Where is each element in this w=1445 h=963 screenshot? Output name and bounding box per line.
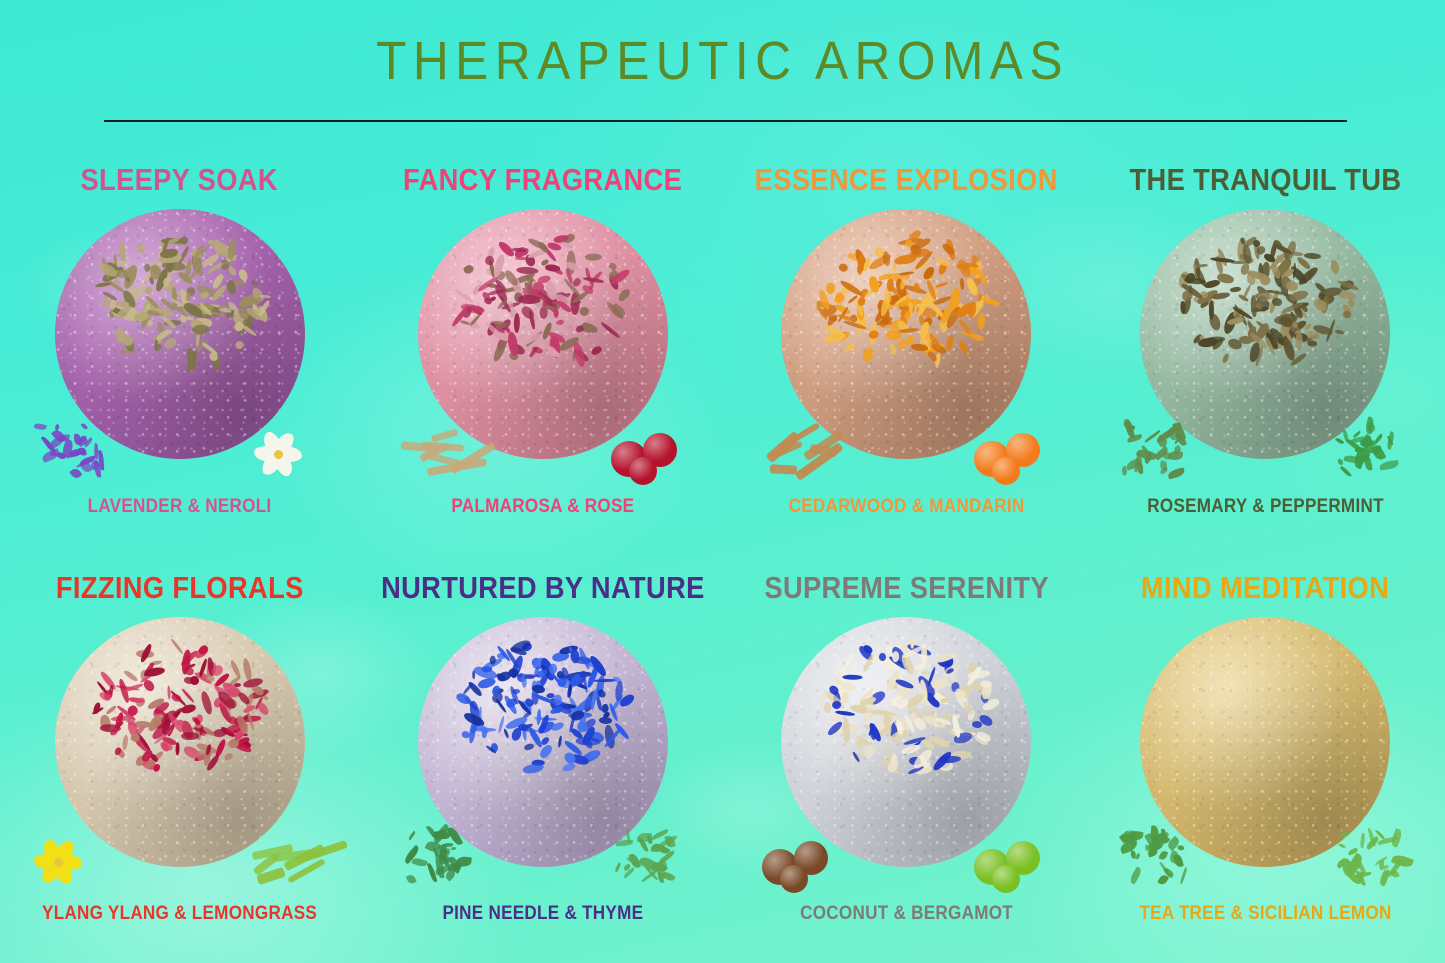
product-image xyxy=(1129,209,1401,481)
palmarosa-bundle-garnish xyxy=(397,425,475,483)
botanical-topping xyxy=(85,635,275,785)
product-cell[interactable]: THE TRANQUIL TUBROSEMARY & PEPPERMINT xyxy=(1086,148,1445,556)
poster-canvas: THERAPEUTIC AROMAS SLEEPY SOAKLAVENDER &… xyxy=(0,0,1445,963)
botanical-topping xyxy=(811,227,1001,377)
product-cell[interactable]: SLEEPY SOAKLAVENDER & NEROLI xyxy=(0,148,359,556)
rosemary-sprig-garnish xyxy=(1119,421,1197,483)
product-cell[interactable]: FIZZING FLORALSYLANG YLANG & LEMONGRASS xyxy=(0,556,359,963)
product-image xyxy=(1129,617,1401,889)
product-title: MIND MEDITATION xyxy=(1141,572,1389,603)
lemon-leaves-garnish xyxy=(1333,829,1411,891)
product-title: SLEEPY SOAK xyxy=(81,164,278,195)
product-image xyxy=(407,617,679,889)
product-cell[interactable]: NURTURED BY NATUREPINE NEEDLE & THYME xyxy=(359,556,727,963)
product-grid: SLEEPY SOAKLAVENDER & NEROLIFANCY FRAGRA… xyxy=(0,148,1445,963)
neroli-blossom-garnish xyxy=(254,425,326,483)
product-image xyxy=(407,209,679,481)
product-title: ESSENCE EXPLOSION xyxy=(755,164,1058,195)
bergamot-lime-garnish xyxy=(972,833,1052,891)
product-title: SUPREME SERENITY xyxy=(764,572,1049,603)
product-caption: COCONUT & BERGAMOT xyxy=(745,903,1068,925)
botanical-topping xyxy=(448,635,638,785)
lemongrass-stalks-garnish xyxy=(248,833,326,891)
product-image xyxy=(770,617,1042,889)
product-caption: PALMAROSA & ROSE xyxy=(377,496,708,518)
tea-tree-frond-garnish xyxy=(1119,829,1197,891)
peppermint-leaves-garnish xyxy=(1333,421,1411,483)
product-caption: YLANG YLANG & LEMONGRASS xyxy=(18,903,341,925)
botanical-topping xyxy=(85,227,275,377)
coconut-halves-garnish xyxy=(760,833,840,891)
page-title: THERAPEUTIC AROMAS xyxy=(58,30,1387,92)
product-cell[interactable]: ESSENCE EXPLOSIONCEDARWOOD & MANDARIN xyxy=(727,148,1086,556)
botanical-topping xyxy=(811,635,1001,785)
product-title: FANCY FRAGRANCE xyxy=(403,164,682,195)
product-caption: ROSEMARY & PEPPERMINT xyxy=(1104,496,1427,518)
product-cell[interactable]: MIND MEDITATIONTEA TREE & SICILIAN LEMON xyxy=(1086,556,1445,963)
ylang-ylang-flower-garnish xyxy=(34,833,106,891)
product-caption: PINE NEEDLE & THYME xyxy=(377,903,708,925)
title-divider xyxy=(104,120,1347,122)
product-caption: CEDARWOOD & MANDARIN xyxy=(745,496,1068,518)
lavender-sprigs-garnish xyxy=(34,421,112,483)
cedarwood-bark-garnish xyxy=(760,425,838,483)
product-title: FIZZING FLORALS xyxy=(56,572,304,603)
product-image xyxy=(770,209,1042,481)
product-image xyxy=(44,617,316,889)
product-title: NURTURED BY NATURE xyxy=(381,572,705,603)
red-roses-garnish xyxy=(609,425,689,483)
botanical-topping xyxy=(1170,227,1360,377)
product-cell[interactable]: FANCY FRAGRANCEPALMAROSA & ROSE xyxy=(359,148,727,556)
product-title: THE TRANQUIL TUB xyxy=(1130,164,1402,195)
thyme-leaves-garnish xyxy=(611,829,689,891)
pine-needles-garnish xyxy=(397,829,475,891)
botanical-topping xyxy=(448,227,638,377)
mandarin-fruit-garnish xyxy=(972,425,1052,483)
product-caption: LAVENDER & NEROLI xyxy=(18,496,341,518)
product-image xyxy=(44,209,316,481)
product-cell[interactable]: SUPREME SERENITYCOCONUT & BERGAMOT xyxy=(727,556,1086,963)
product-caption: TEA TREE & SICILIAN LEMON xyxy=(1104,903,1427,925)
